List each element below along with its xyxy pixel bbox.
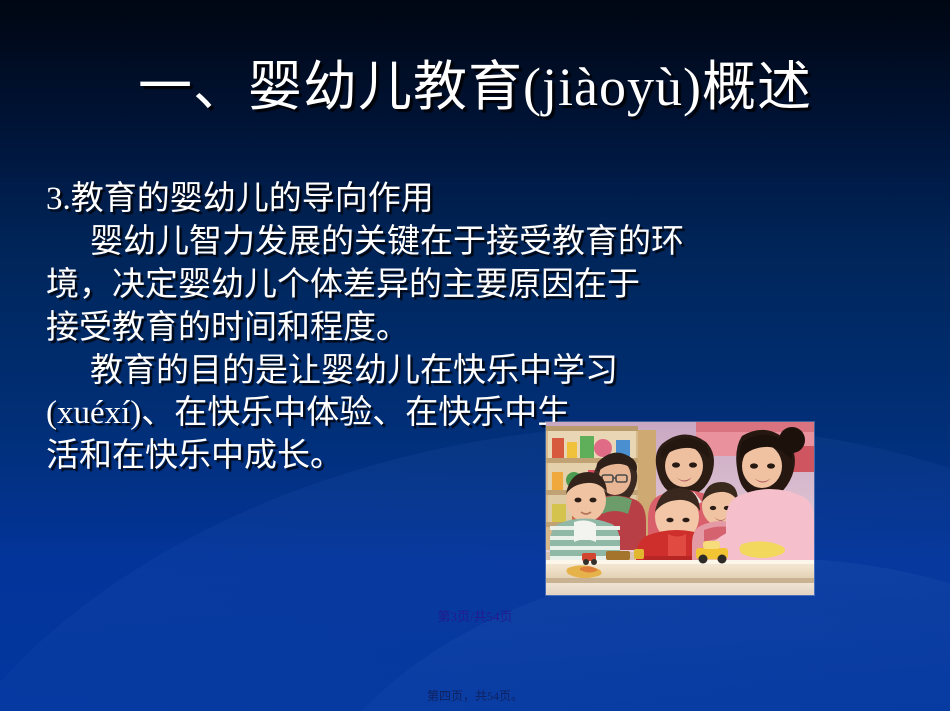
paragraph1-line-2: 境，决定婴幼儿个体差异的主要原因在于 xyxy=(46,264,906,307)
slide-canvas: 一、婴幼儿教育(jiàoyù)概述 3.教育的婴幼儿的导向作用 婴幼儿智力发展的… xyxy=(0,0,950,711)
paragraph2-line-1: 教育的目的是让婴幼儿在快乐中学习 xyxy=(46,350,906,393)
body-heading: 3.教育的婴幼儿的导向作用 xyxy=(46,178,906,221)
slide-title: 一、婴幼儿教育(jiàoyù)概述 xyxy=(0,58,950,117)
page-indicator: 第3页/共54页 xyxy=(0,606,950,625)
paragraph1-line-3: 接受教育的时间和程度。 xyxy=(46,307,906,350)
classroom-photo xyxy=(546,422,814,595)
bottom-page-note: 第四页，共54页。 xyxy=(0,687,950,704)
paragraph1-line-1: 婴幼儿智力发展的关键在于接受教育的环 xyxy=(46,221,906,264)
